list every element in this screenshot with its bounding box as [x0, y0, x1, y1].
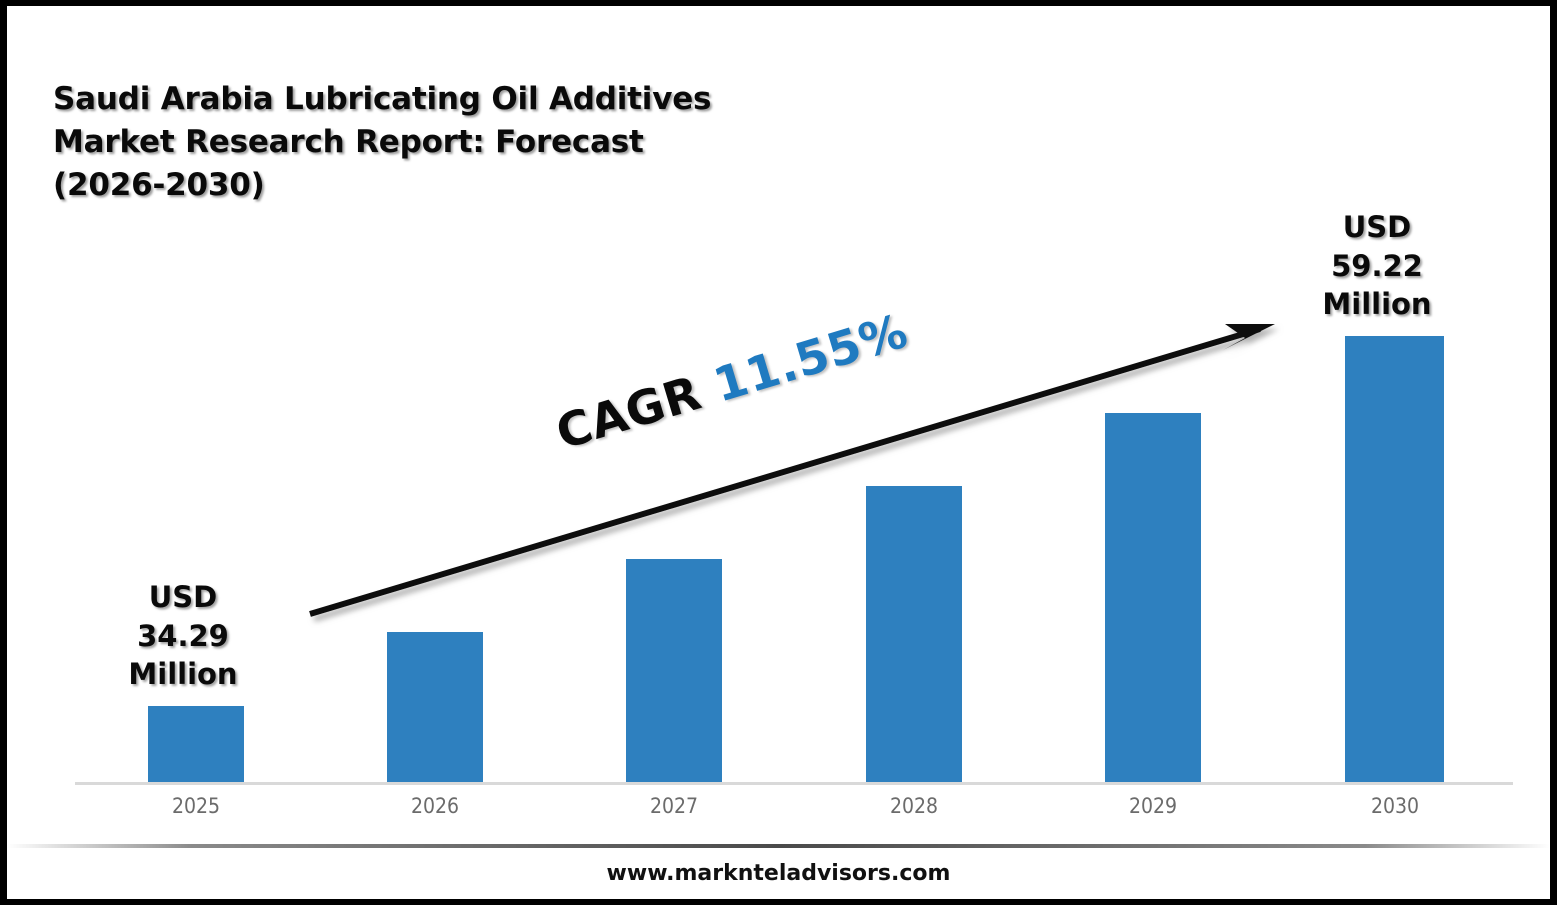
chart-card: Saudi Arabia Lubricating Oil Additives M… — [7, 6, 1550, 899]
x-tick-2027: 2027 — [599, 794, 749, 818]
bar-2026 — [387, 632, 483, 782]
bar-2027 — [626, 559, 722, 782]
value-label-last: USD 59.22 Million — [1297, 208, 1457, 324]
x-tick-2028: 2028 — [839, 794, 989, 818]
cagr-value-text: 11.55% — [708, 304, 914, 414]
value-label-first: USD 34.29 Million — [103, 578, 263, 694]
bar-2029 — [1105, 413, 1201, 782]
x-tick-2026: 2026 — [360, 794, 510, 818]
x-tick-2025: 2025 — [121, 794, 271, 818]
x-tick-2029: 2029 — [1078, 794, 1228, 818]
x-axis-line — [75, 782, 1513, 785]
bar-2030 — [1345, 336, 1444, 782]
bar-chart-plot-area: 2025 2026 2027 2028 2029 2030 USD 34.29 … — [7, 6, 1550, 899]
bar-2025 — [148, 706, 244, 782]
footer-divider — [7, 844, 1550, 848]
x-tick-2030: 2030 — [1320, 794, 1470, 818]
bar-2028 — [866, 486, 962, 782]
cagr-prefix-text: CAGR — [550, 366, 707, 461]
cagr-annotation: CAGR 11.55% — [550, 304, 914, 461]
source-website-label: www.marknteladvisors.com — [7, 861, 1550, 886]
